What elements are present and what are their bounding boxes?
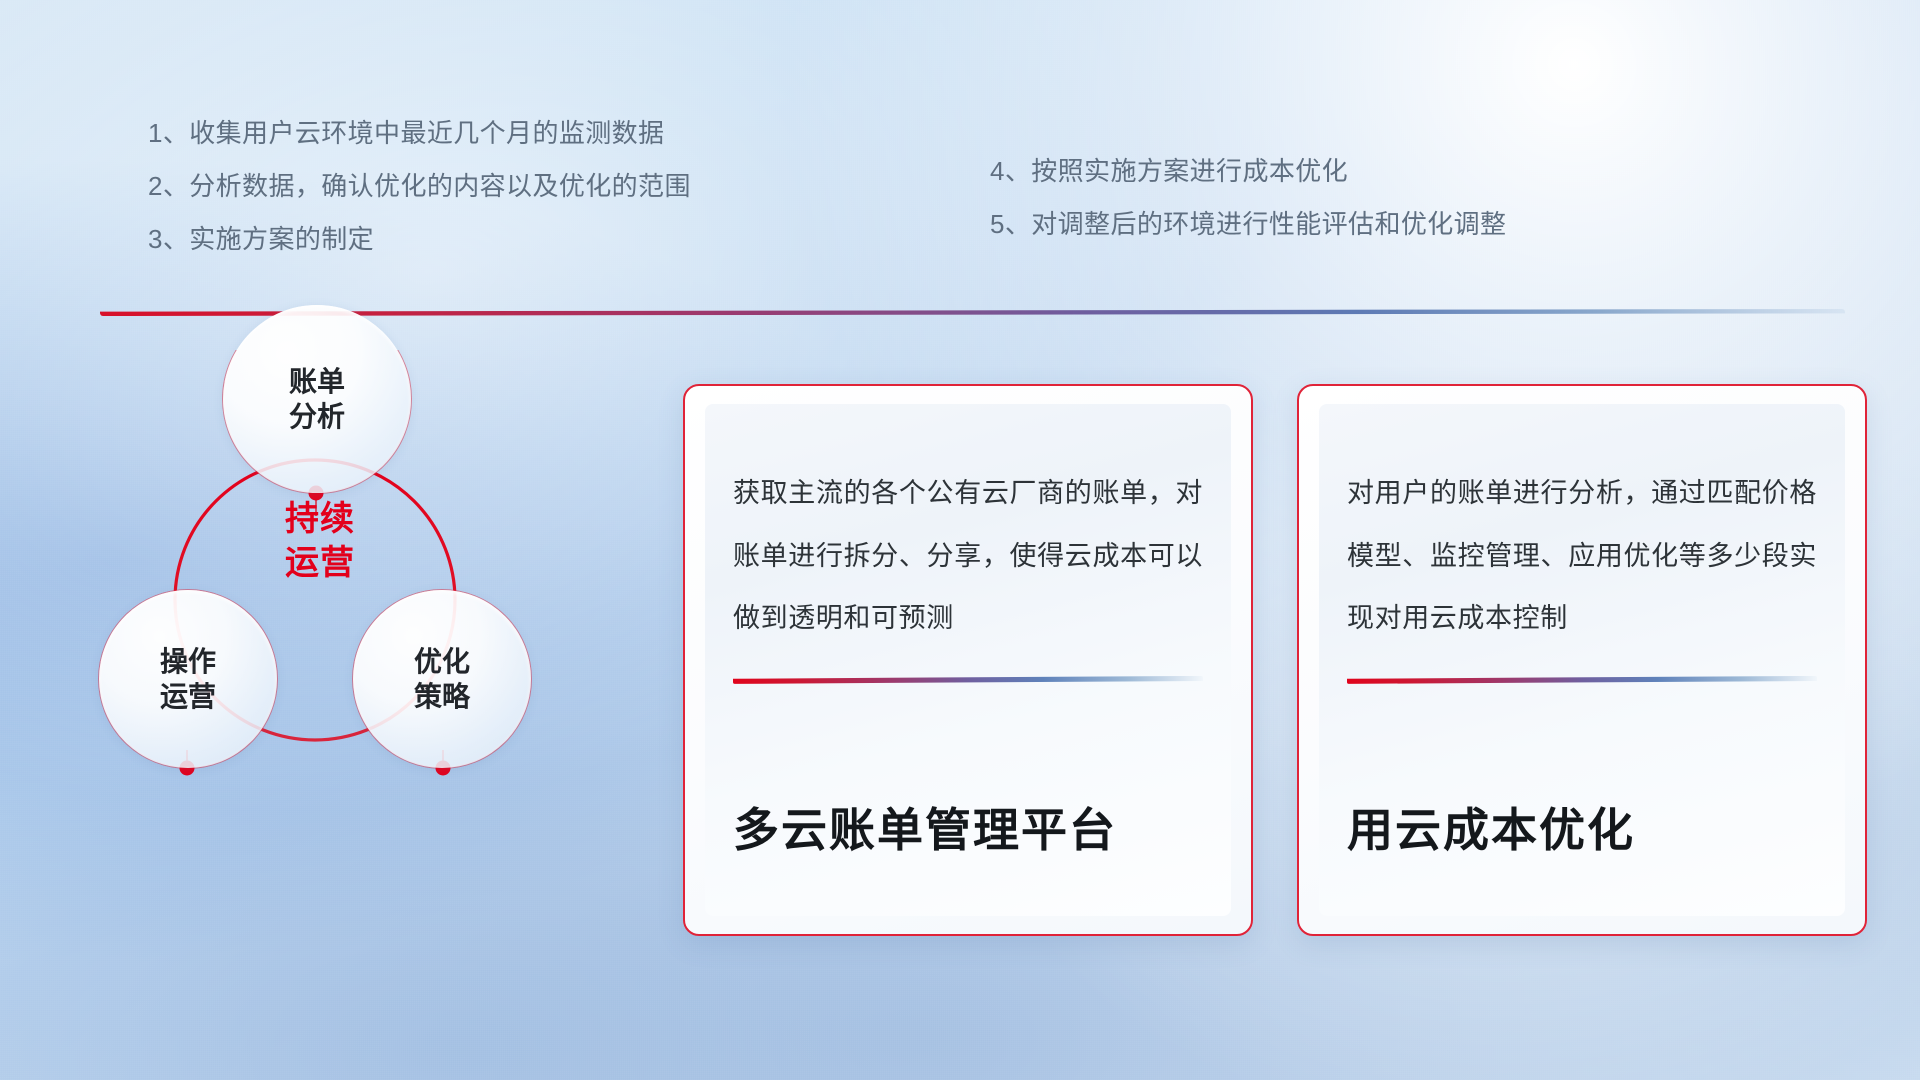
card-divider-1 <box>733 676 1203 684</box>
venn-diagram: 账单 分析 操作 运营 优化 策略 持续 运营 <box>75 350 595 910</box>
venn-bubble-right-line2: 策略 <box>414 681 470 712</box>
venn-bubble-top-line1: 账单 <box>289 366 345 397</box>
card-divider-2 <box>1347 676 1817 684</box>
venn-bubble-left-text: 操作 运营 <box>160 644 216 715</box>
step-item-4: 4、按照实施方案进行成本优化 <box>990 158 1506 184</box>
venn-bubble-left-line1: 操作 <box>160 646 216 677</box>
venn-bubble-left-line2: 运营 <box>160 681 216 712</box>
steps-list-left: 1、收集用户云环境中最近几个月的监测数据 2、分析数据，确认优化的内容以及优化的… <box>148 120 691 279</box>
step-item-1: 1、收集用户云环境中最近几个月的监测数据 <box>148 120 691 146</box>
step-item-2: 2、分析数据，确认优化的内容以及优化的范围 <box>148 173 691 199</box>
slide-root: 1、收集用户云环境中最近几个月的监测数据 2、分析数据，确认优化的内容以及优化的… <box>0 0 1920 1080</box>
step-item-5: 5、对调整后的环境进行性能评估和优化调整 <box>990 211 1506 237</box>
venn-bubble-right-text: 优化 策略 <box>414 644 470 715</box>
card-title-1: 多云账单管理平台 <box>705 794 1231 916</box>
feature-card-multicloud-billing[interactable]: 获取主流的各个公有云厂商的账单，对账单进行拆分、分享，使得云成本可以做到透明和可… <box>683 384 1253 936</box>
venn-center-label: 持续 运营 <box>245 498 395 585</box>
card-body-text-2: 对用户的账单进行分析，通过匹配价格模型、监控管理、应用优化等多少段实现对用云成本… <box>1319 404 1845 650</box>
venn-bubble-top-text: 账单 分析 <box>289 364 345 435</box>
venn-bubble-top-line2: 分析 <box>289 401 345 432</box>
venn-center-label-line1: 持续 <box>285 500 355 538</box>
card-body-text-1: 获取主流的各个公有云厂商的账单，对账单进行拆分、分享，使得云成本可以做到透明和可… <box>705 404 1231 650</box>
steps-list-right: 4、按照实施方案进行成本优化 5、对调整后的环境进行性能评估和优化调整 <box>990 158 1506 264</box>
feature-card-cloud-cost-optimization[interactable]: 对用户的账单进行分析，通过匹配价格模型、监控管理、应用优化等多少段实现对用云成本… <box>1297 384 1867 936</box>
step-item-3: 3、实施方案的制定 <box>148 226 691 252</box>
card-inner-panel-2: 对用户的账单进行分析，通过匹配价格模型、监控管理、应用优化等多少段实现对用云成本… <box>1319 404 1845 916</box>
card-title-2: 用云成本优化 <box>1319 794 1845 916</box>
venn-bubble-optimization-strategy[interactable]: 优化 策略 <box>353 590 531 768</box>
venn-center-label-line2: 运营 <box>285 544 355 582</box>
venn-bubble-billing-analysis[interactable]: 账单 分析 <box>223 305 411 493</box>
venn-bubble-operations[interactable]: 操作 运营 <box>99 590 277 768</box>
venn-bubble-right-line1: 优化 <box>414 646 470 677</box>
card-inner-panel-1: 获取主流的各个公有云厂商的账单，对账单进行拆分、分享，使得云成本可以做到透明和可… <box>705 404 1231 916</box>
